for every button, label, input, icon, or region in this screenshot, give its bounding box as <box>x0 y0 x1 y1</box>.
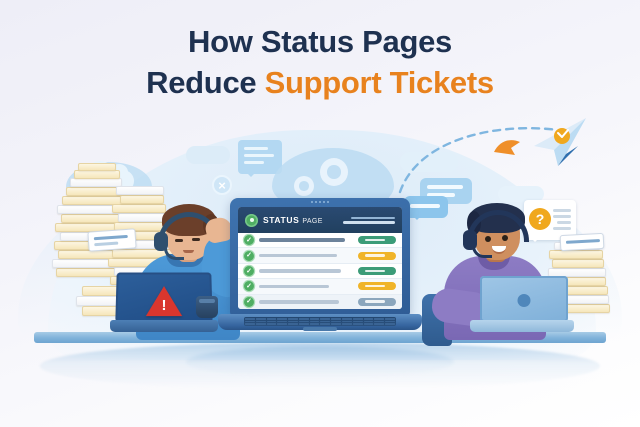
center-laptop-lid: STATUS PAGE ✓ ✓ <box>230 198 410 316</box>
check-icon: ✓ <box>244 251 254 261</box>
warning-exclamation: ! <box>161 298 166 313</box>
headline-line-2: Reduce Support Tickets <box>0 63 640 104</box>
headline: How Status Pages Reduce Support Tickets <box>0 22 640 104</box>
service-name-bar <box>259 238 345 242</box>
service-name-bar <box>259 269 341 273</box>
status-badge <box>358 252 396 260</box>
keyboard[interactable] <box>244 317 396 326</box>
gear-icon-small <box>294 176 314 196</box>
check-icon: ✓ <box>244 297 254 307</box>
status-logo-icon <box>245 214 258 227</box>
status-row[interactable]: ✓ <box>238 248 402 263</box>
close-x-icon: × <box>372 178 382 195</box>
status-badge <box>358 282 396 290</box>
status-row[interactable]: ✓ <box>238 233 402 248</box>
status-page-meta <box>343 217 395 224</box>
infographic-canvas: How Status Pages Reduce Support Tickets … <box>0 0 640 427</box>
service-name-bar <box>259 285 329 289</box>
status-page-header: STATUS PAGE <box>238 207 402 233</box>
status-row[interactable]: ✓ <box>238 264 402 279</box>
headline-prefix: Reduce <box>146 65 265 100</box>
status-rows-list: ✓ ✓ ✓ ✓ <box>238 233 402 309</box>
orange-arrow-icon <box>493 136 521 158</box>
ticket-label-right <box>560 233 605 251</box>
paper-plane-icon <box>524 116 588 168</box>
check-icon: ✓ <box>244 266 254 276</box>
brand-subtitle: PAGE <box>302 218 323 225</box>
status-page-brand: STATUS PAGE <box>263 215 323 225</box>
center-laptop: STATUS PAGE ✓ ✓ <box>218 198 422 346</box>
cloud-wisp-2 <box>186 146 230 164</box>
gear-icon <box>320 158 348 186</box>
status-badge <box>358 236 396 244</box>
desk-shadow <box>40 343 600 389</box>
error-x-icon: × <box>212 175 232 195</box>
brand-title: STATUS <box>263 215 299 225</box>
status-page-screen: STATUS PAGE ✓ ✓ <box>238 207 402 309</box>
check-icon: ✓ <box>244 281 254 291</box>
agent-mouth <box>183 250 194 253</box>
laptop-logo <box>518 294 531 307</box>
list-bubble-icon <box>238 140 282 174</box>
check-icon: ✓ <box>244 235 254 245</box>
right-laptop-base <box>470 320 574 332</box>
status-row[interactable]: ✓ <box>238 279 402 294</box>
trackpad[interactable] <box>303 327 337 331</box>
status-badge <box>358 267 396 275</box>
headline-accent: Support Tickets <box>265 65 494 100</box>
status-row[interactable]: ✓ <box>238 295 402 309</box>
headline-line-1: How Status Pages <box>0 22 640 63</box>
webcam-dots <box>230 201 410 203</box>
left-laptop-base <box>110 320 218 332</box>
right-laptop-screen <box>480 276 568 322</box>
desk-cup <box>196 296 218 318</box>
status-badge <box>358 298 396 306</box>
right-laptop <box>470 276 574 334</box>
service-name-bar <box>259 254 337 258</box>
service-name-bar <box>259 300 339 304</box>
